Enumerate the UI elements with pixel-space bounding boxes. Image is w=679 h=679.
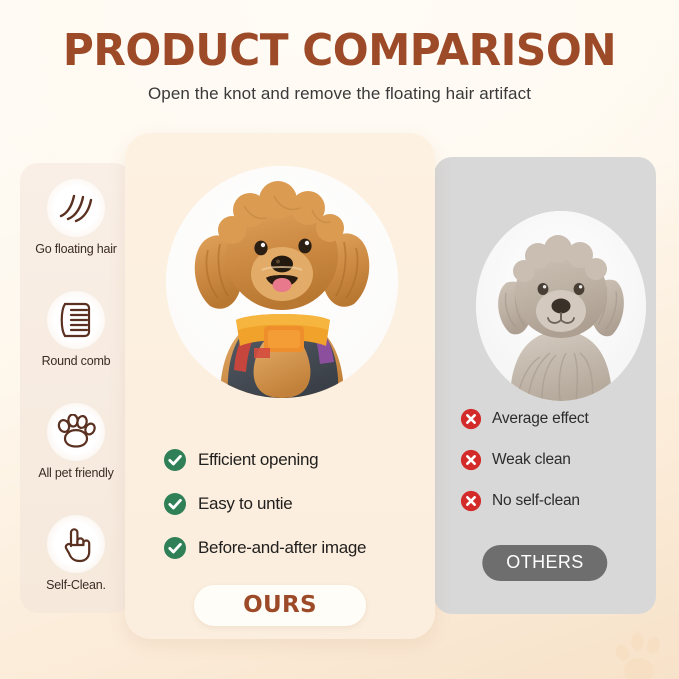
ours-list-item: Efficient opening — [163, 448, 425, 472]
ours-badge: OURS — [194, 585, 366, 626]
paw-decoration-corner — [614, 628, 672, 679]
ours-list-item: Easy to untie — [163, 492, 425, 516]
others-list-item: Weak clean — [460, 449, 640, 471]
paw-icon — [47, 403, 105, 461]
others-feature-list: Average effect Weak clean — [460, 408, 640, 531]
others-badge: OTHERS — [482, 545, 607, 581]
ours-feature-list: Efficient opening Easy to untie — [163, 448, 425, 580]
ours-list-item: Before-and-after image — [163, 536, 425, 560]
page-subtitle: Open the knot and remove the floating ha… — [0, 84, 679, 104]
feature-round-comb: Round comb — [20, 291, 132, 368]
x-circle-icon — [460, 408, 482, 430]
feature-label: Go floating hair — [20, 242, 132, 256]
others-list-label: No self-clean — [492, 492, 580, 510]
others-list-label: Average effect — [492, 410, 589, 428]
others-product-photo — [476, 211, 646, 401]
ours-list-label: Before-and-after image — [198, 538, 366, 558]
feature-all-pet-friendly: All pet friendly — [20, 403, 132, 480]
check-circle-icon — [163, 448, 187, 472]
feature-label: Round comb — [20, 354, 132, 368]
grey-poodle-illustration — [476, 211, 646, 401]
comparison-infographic: PRODUCT COMPARISON Open the knot and rem… — [0, 0, 679, 679]
others-badge-label: OTHERS — [506, 552, 583, 572]
check-circle-icon — [163, 492, 187, 516]
apricot-poodle-illustration — [166, 166, 398, 398]
others-card: Average effect Weak clean — [434, 157, 656, 614]
page-title: PRODUCT COMPARISON — [14, 28, 666, 74]
others-list-label: Weak clean — [492, 451, 571, 469]
feature-rail: Go floating hair Round comb — [20, 163, 132, 613]
header: PRODUCT COMPARISON Open the knot and rem… — [0, 28, 679, 104]
hand-tap-icon — [47, 515, 105, 573]
x-circle-icon — [460, 490, 482, 512]
ours-badge-label: OURS — [243, 592, 317, 618]
floating-hair-icon — [47, 179, 105, 237]
feature-go-floating-hair: Go floating hair — [20, 179, 132, 256]
ours-card: Efficient opening Easy to untie — [125, 133, 435, 639]
check-circle-icon — [163, 536, 187, 560]
ours-list-label: Efficient opening — [198, 450, 318, 470]
feature-label: All pet friendly — [20, 466, 132, 480]
feature-label: Self-Clean. — [20, 578, 132, 592]
ours-product-photo — [166, 166, 398, 398]
round-comb-icon — [47, 291, 105, 349]
x-circle-icon — [460, 449, 482, 471]
others-list-item: Average effect — [460, 408, 640, 430]
others-list-item: No self-clean — [460, 490, 640, 512]
ours-list-label: Easy to untie — [198, 494, 292, 514]
feature-self-clean: Self-Clean. — [20, 515, 132, 592]
